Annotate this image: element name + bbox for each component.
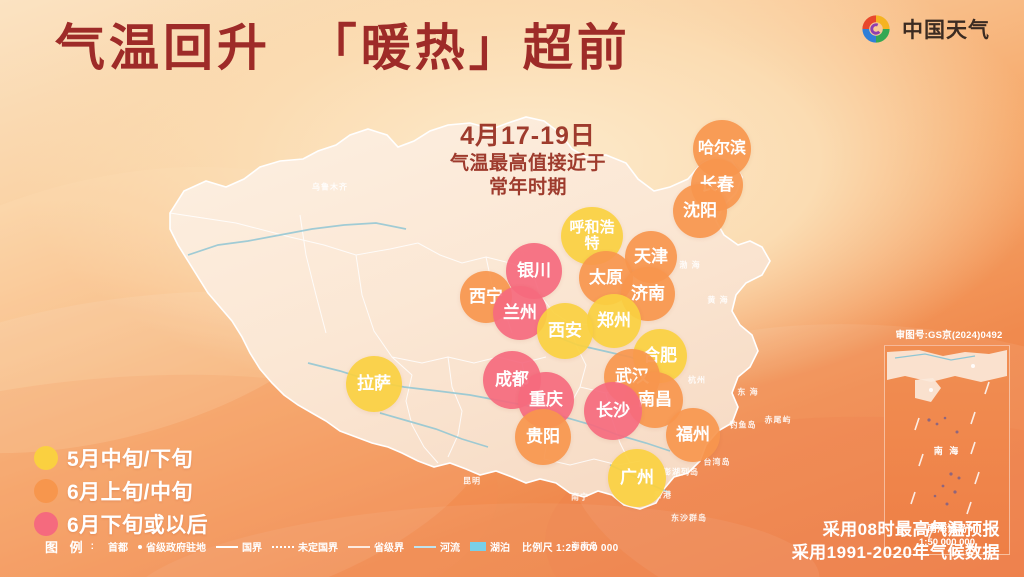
map-key-strip: 图 例 : 首都 省级政府驻地 国界 未定国界 省级界 河流 湖泊 比例尺 xyxy=(45,537,619,556)
legend-color-dot-pink xyxy=(34,512,58,536)
map-place-label: 澎湖列岛 xyxy=(663,467,699,478)
city-bubble-福州[interactable]: 福州 xyxy=(666,408,720,462)
map-place-label: 东 海 xyxy=(737,387,758,398)
data-source-note: 采用08时最高气温预报 采用1991-2020年气候数据 xyxy=(792,519,1000,565)
data-source-line-2: 采用1991-2020年气候数据 xyxy=(792,542,1000,565)
map-key-undefined-border-label: 未定国界 xyxy=(298,539,338,554)
legend-color-dot-orange xyxy=(34,479,58,503)
map-key-province-border: 省级界 xyxy=(348,539,404,554)
page-title: 气温回升 「暖热」超前 xyxy=(55,22,631,75)
lake-swatch-icon xyxy=(470,542,486,551)
city-bubble-郑州[interactable]: 郑州 xyxy=(587,294,641,348)
legend-color-dot-yellow xyxy=(34,446,58,470)
legend-item-label: 6月下旬或以后 xyxy=(67,509,208,539)
map-key-lake: 湖泊 xyxy=(470,539,510,554)
map-key-province-border-label: 省级界 xyxy=(374,539,404,554)
map-key-capital-label: 首都 xyxy=(108,539,128,554)
city-bubble-拉萨[interactable]: 拉萨 xyxy=(346,356,402,412)
subtitle-date-range: 4月17-19日 xyxy=(414,122,642,152)
map-place-label: 南宁 xyxy=(571,492,589,503)
map-key-national-border-label: 国界 xyxy=(242,539,262,554)
city-dot-icon xyxy=(138,545,142,549)
map-place-label: 东沙群岛 xyxy=(671,513,707,524)
map-place-label: 台湾岛 xyxy=(704,457,731,468)
subtitle-line-3: 常年时期 xyxy=(414,176,642,200)
solid-line-icon xyxy=(216,546,238,548)
city-bubble-西安[interactable]: 西安 xyxy=(537,303,593,359)
map-place-label: 渤 海 xyxy=(679,260,700,271)
map-key-national-border: 国界 xyxy=(216,539,262,554)
city-bubble-长沙[interactable]: 长沙 xyxy=(584,382,642,440)
legend-item-1: 5月中旬/下旬 xyxy=(34,443,208,473)
brand-name: 中国天气 xyxy=(902,14,990,44)
legend-item-label: 6月上旬/中旬 xyxy=(67,476,193,506)
map-place-label: 黄 海 xyxy=(707,295,728,306)
map-place-label: 乌鲁木齐 xyxy=(312,182,348,193)
legend-item-3: 6月下旬或以后 xyxy=(34,509,208,539)
thin-line-icon xyxy=(348,546,370,548)
legend-item-label: 5月中旬/下旬 xyxy=(67,443,193,473)
infographic-canvas: 乌鲁木齐昆明南宁杭州香港海南岛渤 海黄 海东 海台湾岛澎湖列岛钓鱼岛赤尾屿东沙群… xyxy=(0,0,1024,577)
map-place-label: 杭州 xyxy=(688,375,706,386)
map-place-label: 钓鱼岛 xyxy=(730,420,757,431)
map-key-river-label: 河流 xyxy=(440,539,460,554)
brand-logo-block: 中国天气 xyxy=(859,12,990,46)
map-key-capital: 首都 xyxy=(104,539,128,554)
review-number: 审图号:GS京(2024)0492 xyxy=(884,327,1014,341)
subtitle-block: 4月17-19日 气温最高值接近于 常年时期 xyxy=(414,122,642,200)
river-line-icon xyxy=(414,546,436,548)
map-place-label: 昆明 xyxy=(463,476,481,487)
map-key-province-seat-label: 省级政府驻地 xyxy=(146,539,206,554)
china-weather-spiral-logo-icon xyxy=(859,12,893,46)
city-bubble-沈阳[interactable]: 沈阳 xyxy=(673,184,727,238)
color-legend: 5月中旬/下旬6月上旬/中旬6月下旬或以后 xyxy=(34,443,208,542)
map-key-undefined-border: 未定国界 xyxy=(272,539,338,554)
city-bubble-贵阳[interactable]: 贵阳 xyxy=(515,409,571,465)
city-bubble-广州[interactable]: 广州 xyxy=(608,449,666,507)
legend-item-2: 6月上旬/中旬 xyxy=(34,476,208,506)
subtitle-line-2: 气温最高值接近于 xyxy=(414,152,642,176)
svg-text:南 海: 南 海 xyxy=(934,445,961,456)
map-key-separator: : xyxy=(91,541,94,552)
data-source-line-1: 采用08时最高气温预报 xyxy=(792,519,1000,542)
dotted-line-icon xyxy=(272,546,294,548)
map-key-scale: 比例尺 1:25 000 000 xyxy=(522,539,619,554)
map-key-river: 河流 xyxy=(414,539,460,554)
map-place-label: 赤尾屿 xyxy=(765,415,792,426)
map-key-title: 图 例 xyxy=(45,537,87,556)
map-key-lake-label: 湖泊 xyxy=(490,539,510,554)
map-key-province-seat: 省级政府驻地 xyxy=(138,539,206,554)
